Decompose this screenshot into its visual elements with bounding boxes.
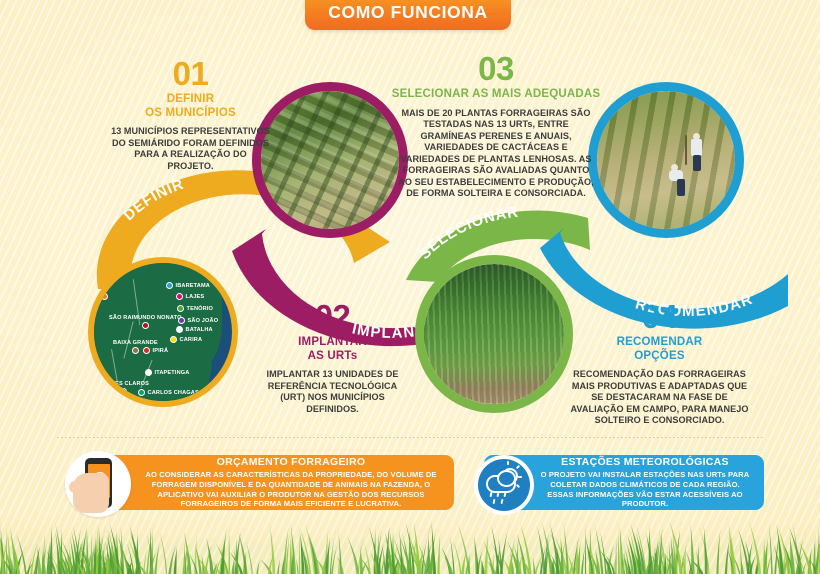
step-02-subtitle-line2: AS URTs xyxy=(250,350,415,364)
map-marker[interactable]: IBARETAMA xyxy=(166,282,210,289)
step-01: 01 DEFINIR OS MUNICÍPIOS 13 MUNICÍPIOS R… xyxy=(88,57,293,172)
map-marker-label: IPIRÁ xyxy=(153,348,169,354)
step-04-body: RECOMENDAÇÃO DAS FORRAGEIRAS MAIS PRODUT… xyxy=(562,369,757,427)
map-marker-label: FORTUNA xyxy=(88,294,99,300)
map-marker-dot xyxy=(177,305,184,312)
map-marker-dot xyxy=(166,282,173,289)
step-04-subtitle-line2: OPÇÕES xyxy=(562,350,757,364)
step-01-subtitle-line2: OS MUNICÍPIOS xyxy=(88,107,293,121)
map-marker-dot xyxy=(176,326,183,333)
card-orcamento-title: ORÇAMENTO FORRAGEIRO xyxy=(138,456,444,468)
section-divider xyxy=(57,437,763,438)
step-01-number: 01 xyxy=(88,57,293,90)
map-marker-dot xyxy=(101,293,108,300)
map-marker-label: SÃO RAIMUNDO NONATO xyxy=(109,315,182,321)
step-02-body: IMPLANTAR 13 UNIDADES DE REFERÊNCIA TECN… xyxy=(250,369,415,415)
grass-blades-icon xyxy=(0,512,820,574)
step-02-subtitle-line1: IMPLANTAR xyxy=(250,336,415,350)
step-02-number: 02 xyxy=(250,300,415,333)
map-marker[interactable]: ITAPETINGA xyxy=(145,369,189,376)
phone-in-hand-icon xyxy=(65,451,131,517)
step-03: 03 SELECIONAR AS MAIS ADEQUADAS MAIS DE … xyxy=(388,52,604,200)
map-marker-label: TENÓRIO xyxy=(187,306,214,312)
map-marker-dot xyxy=(143,347,150,354)
map-marker-dot xyxy=(176,293,183,300)
step-04: 04 RECOMENDAR OPÇÕES RECOMENDAÇÃO DAS FO… xyxy=(562,300,757,427)
map-marker[interactable]: TENÓRIO xyxy=(177,305,213,312)
map-marker[interactable]: IPIRÁ xyxy=(143,347,168,354)
map-municipalities[interactable]: FORTUNAIBARETAMALAJESTENÓRIOSÃO RAIMUNDO… xyxy=(88,257,238,407)
map-marker-dot xyxy=(145,369,152,376)
map-marker-dot xyxy=(142,322,149,329)
map-marker-dot xyxy=(170,336,177,343)
step-03-number: 03 xyxy=(388,52,604,85)
step-02: 02 IMPLANTAR AS URTs IMPLANTAR 13 UNIDAD… xyxy=(250,300,415,415)
map-marker-label: SÃO JOÃO xyxy=(188,318,219,324)
map-marker-label: MONTES CLAROS xyxy=(98,381,149,387)
card-estacoes-description: O PROJETO VAI INSTALAR ESTAÇÕES NAS URTs… xyxy=(536,470,754,509)
map-marker-label: IBARETAMA xyxy=(176,283,211,289)
step-04-number: 04 xyxy=(562,300,757,333)
card-orcamento-forrageiro[interactable]: ORÇAMENTO FORRAGEIRO AO CONSIDERAR AS CA… xyxy=(92,455,454,510)
card-estacoes-title: ESTAÇÕES METEOROLÓGICAS xyxy=(536,456,754,468)
map-marker-label: LAJES xyxy=(186,294,205,300)
map-marker-dot xyxy=(132,347,139,354)
map-marker-label: CARIRA xyxy=(180,337,203,343)
photo-researchers-in-field xyxy=(588,82,744,238)
step-01-body: 13 MUNICÍPIOS REPRESENTATIVOS DO SEMIÁRI… xyxy=(88,126,293,172)
page-title-banner: COMO FUNCIONA xyxy=(305,0,511,30)
weather-cloud-sun-rain-icon xyxy=(474,455,534,515)
map-marker[interactable]: CARIRA xyxy=(170,336,202,343)
map-marker[interactable]: SÃO JOÃO xyxy=(178,317,218,324)
map-marker[interactable]: LAJES xyxy=(176,293,204,300)
map-marker[interactable]: SÃO RAIMUNDO NONATO xyxy=(109,315,182,329)
map-marker[interactable]: CARLOS CHAGAS xyxy=(138,389,199,396)
map-marker-dot xyxy=(178,317,185,324)
page-title: COMO FUNCIONA xyxy=(328,2,487,23)
map-marker-label: ITAPETINGA xyxy=(155,370,190,376)
step-01-subtitle-line1: DEFINIR xyxy=(88,93,293,107)
map-marker-label: BATALHA xyxy=(186,327,213,333)
step-03-subtitle-line1: SELECIONAR AS MAIS ADEQUADAS xyxy=(388,88,604,102)
map-marker-dot xyxy=(138,389,145,396)
card-orcamento-description: AO CONSIDERAR AS CARACTERÍSTICAS DA PROP… xyxy=(138,470,444,509)
map-marker-dot xyxy=(120,388,127,395)
map-marker-label: CARLOS CHAGAS xyxy=(148,390,199,396)
infographic-canvas: COMO FUNCIONA DEFINIR IMPLANTAR SELECION… xyxy=(0,0,820,574)
map-marker-label: BAIXA GRANDE xyxy=(113,340,158,346)
grass-footer-decoration xyxy=(0,512,820,574)
map-marker[interactable]: BATALHA xyxy=(176,326,213,333)
step-03-body: MAIS DE 20 PLANTAS FORRAGEIRAS SÃO TESTA… xyxy=(388,108,604,200)
photo-forage-grass xyxy=(415,255,573,413)
step-04-subtitle-line1: RECOMENDAR xyxy=(562,336,757,350)
map-marker[interactable]: FORTUNA xyxy=(88,293,108,300)
